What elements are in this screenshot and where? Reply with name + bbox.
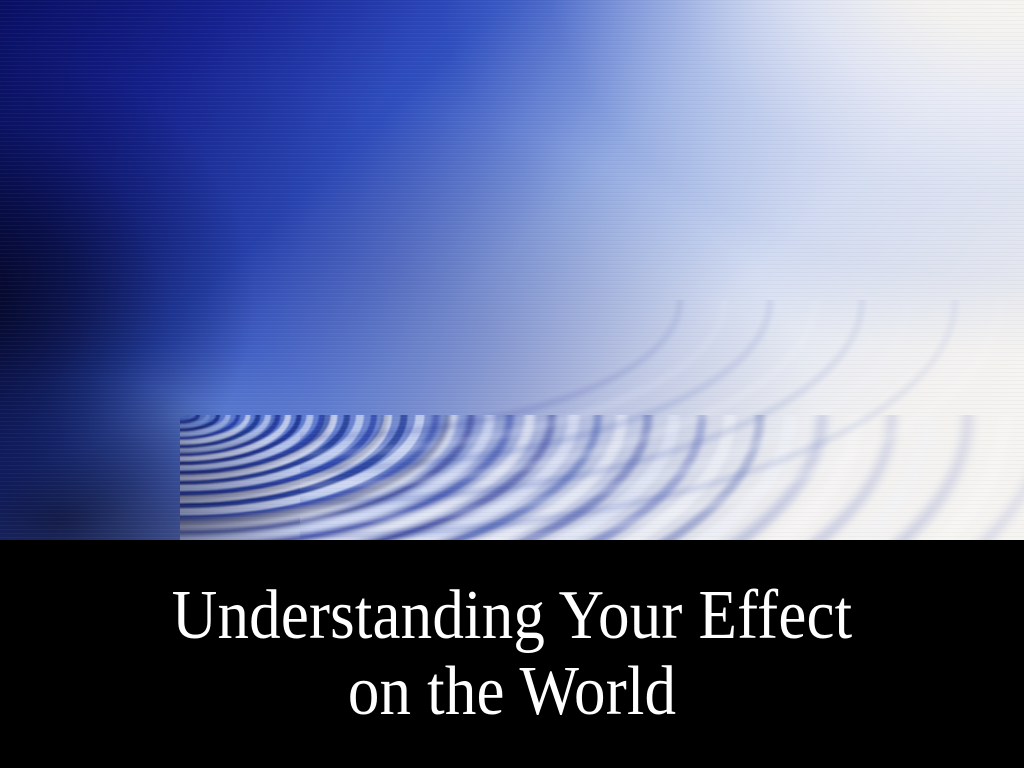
- ripple-graphic: [0, 0, 1024, 540]
- page-title-line-2: on the World: [172, 654, 852, 730]
- presentation-slide: Understanding Your Effect on the World: [0, 0, 1024, 768]
- page-title: Understanding Your Effect on the World: [172, 578, 852, 729]
- page-title-line-1: Understanding Your Effect: [172, 578, 852, 654]
- hero-ripple-image: [0, 0, 1024, 540]
- caption-band: Understanding Your Effect on the World: [0, 540, 1024, 768]
